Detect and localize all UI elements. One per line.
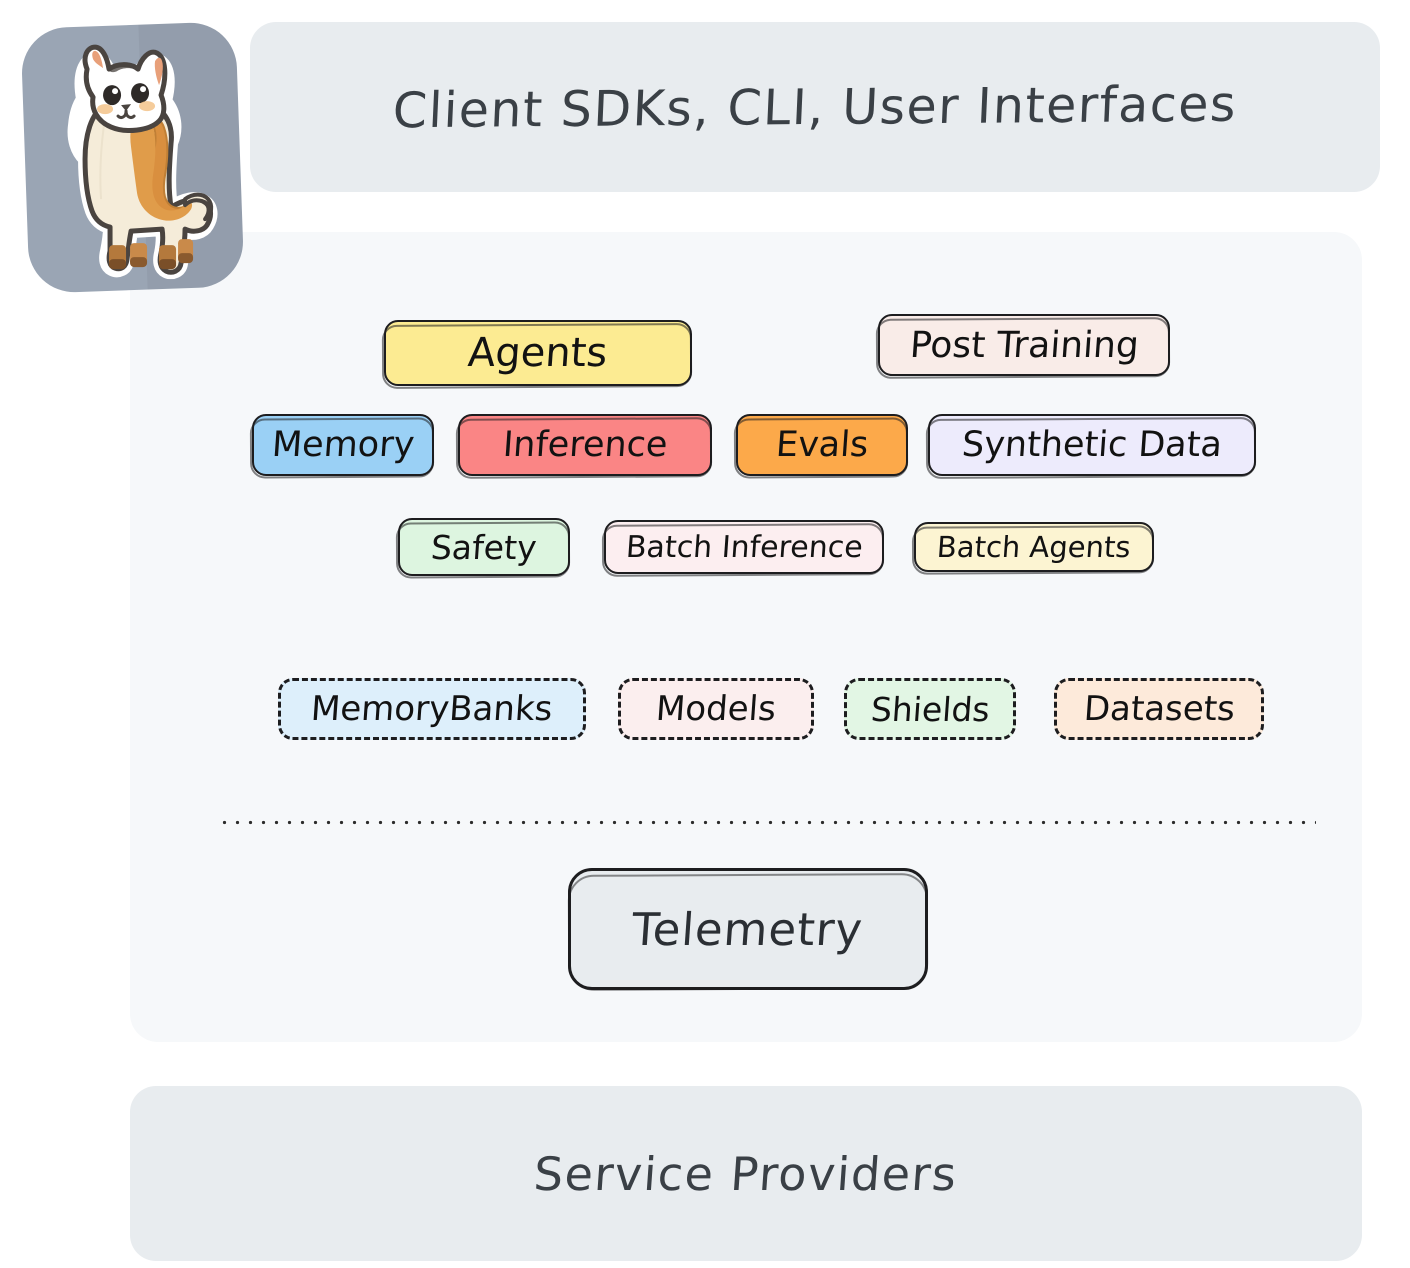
resource-box-label: MemoryBanks xyxy=(310,689,554,729)
api-box-evals[interactable]: Evals xyxy=(736,414,908,476)
section-divider xyxy=(218,820,1316,825)
api-box-agents[interactable]: Agents xyxy=(384,320,692,386)
api-box-post-training[interactable]: Post Training xyxy=(878,314,1170,376)
llama-logo-badge xyxy=(20,21,244,293)
api-box-label: Post Training xyxy=(908,325,1140,366)
llama-logo-icon xyxy=(35,39,225,279)
api-box-label: Memory xyxy=(270,425,415,465)
resource-box-memorybanks[interactable]: MemoryBanks xyxy=(278,678,586,740)
api-box-safety[interactable]: Safety xyxy=(398,518,570,576)
api-box-label: Evals xyxy=(774,425,869,465)
resource-box-label: Datasets xyxy=(1082,689,1236,729)
resource-box-label: Shields xyxy=(869,690,990,729)
resource-box-shields[interactable]: Shields xyxy=(844,678,1016,740)
api-box-label: Batch Inference xyxy=(624,530,863,565)
page-title: Client SDKs, CLI, User Interfaces xyxy=(392,75,1239,139)
api-box-label: Agents xyxy=(467,330,609,376)
api-box-batch-inference[interactable]: Batch Inference xyxy=(604,520,884,574)
api-box-batch-agents[interactable]: Batch Agents xyxy=(914,522,1154,572)
api-box-label: Batch Agents xyxy=(936,530,1132,564)
telemetry-box[interactable]: Telemetry xyxy=(568,868,928,990)
client-interfaces-bar: Client SDKs, CLI, User Interfaces xyxy=(250,22,1380,192)
api-box-label: Safety xyxy=(430,528,538,567)
resource-box-label: Models xyxy=(655,689,778,729)
api-box-label: Synthetic Data xyxy=(961,425,1224,465)
api-box-inference[interactable]: Inference xyxy=(458,414,712,476)
resource-box-datasets[interactable]: Datasets xyxy=(1054,678,1264,740)
resource-box-models[interactable]: Models xyxy=(618,678,814,740)
service-providers-label: Service Providers xyxy=(532,1147,959,1201)
api-box-synthetic-data[interactable]: Synthetic Data xyxy=(928,414,1256,476)
telemetry-label: Telemetry xyxy=(631,903,866,956)
api-box-memory[interactable]: Memory xyxy=(252,414,434,476)
service-providers-bar: Service Providers xyxy=(130,1086,1362,1261)
api-box-label: Inference xyxy=(501,425,668,465)
